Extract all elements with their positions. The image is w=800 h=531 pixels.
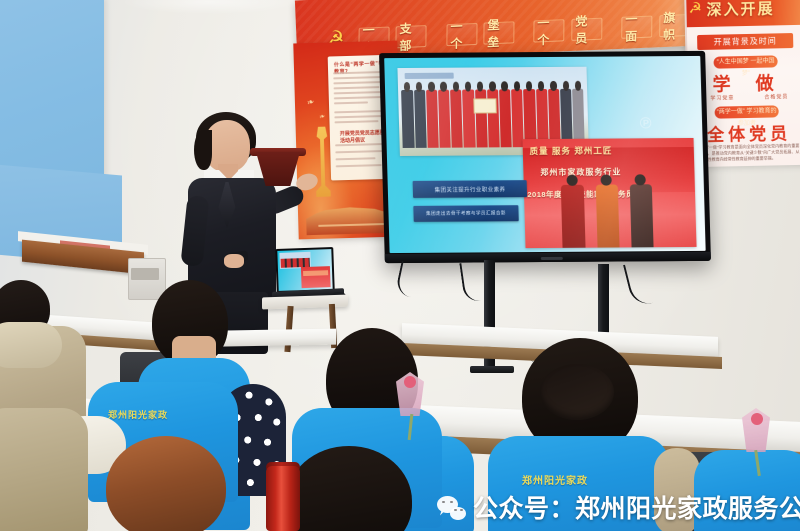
photo-person (401, 90, 414, 148)
presenter-left-hand (224, 254, 244, 268)
photo-logo (405, 73, 454, 79)
slide-text-box-1: 集团关注提升行业职业素养 (413, 180, 527, 198)
right-board-small-left: 学习党章 (710, 94, 734, 102)
screenshot-root: ☭ 一个 支部 一个 堡垒 一个 党员 一面 旗帜 ☭ 深入开展 开展背景及时间… (0, 0, 800, 531)
photo-person (426, 90, 439, 148)
award-person (595, 184, 619, 247)
audience-far-left (0, 408, 90, 531)
right-board-header-text: 深入开展 (706, 0, 774, 20)
wechat-icon (437, 495, 466, 520)
photo-person (499, 90, 512, 148)
right-board-paragraph: “两学一做”学习教育是面向全体党员深化党内教育的重要实践，是推动党内教育从“关键… (699, 143, 799, 163)
banner-word: 一个 (534, 19, 566, 42)
laptop-slide-photo-bottom (301, 266, 331, 288)
banner-word: 党员 (571, 18, 603, 41)
flower-bud (404, 376, 416, 388)
slide-screen: ℗ 质量 服务 郑州工匠 郑州市家政服务行业 2018年度职业技能家政服务员大赛… (384, 56, 706, 253)
wall-box-panel (131, 268, 159, 280)
slide-photo-award: 质量 服务 郑州工匠 郑州市家政服务行业 2018年度职业技能家政服务员大赛 (522, 138, 696, 248)
coat-fur-hood (0, 322, 62, 368)
award-person (561, 184, 585, 247)
banner-word: 一个 (446, 23, 478, 46)
flower-bud (751, 413, 763, 425)
photo-person (438, 90, 451, 148)
slide-watermark: ℗ (640, 115, 652, 133)
vest-company-text: 郑州阳光家政 (108, 408, 168, 421)
tv-brand-logo (541, 257, 563, 260)
watermark-text: 公众号：郑州阳光家政服务公司 (473, 489, 800, 525)
audience-hair-bun (540, 364, 614, 420)
red-thermos (266, 466, 300, 531)
award-banner-line1: 质量 服务 郑州工匠 (529, 144, 686, 157)
banner-word: 一面 (621, 16, 653, 39)
ceiling-light-glow (120, 0, 300, 14)
audience-left-front: 郑州阳光家政 (66, 398, 256, 531)
award-banner-line2: 郑州市家政服务行业 (540, 166, 687, 178)
presentation-display[interactable]: ℗ 质量 服务 郑州工匠 郑州市家政服务行业 2018年度职业技能家政服务员大赛… (379, 51, 711, 263)
photo-plaque (474, 99, 497, 114)
banner-word: 支部 (396, 25, 428, 48)
presenter-hair-side (194, 130, 212, 170)
vest-company-text: 郑州阳光家政 (522, 472, 588, 487)
photo-person (414, 90, 427, 148)
tan-coat (0, 408, 88, 531)
hammer-sickle-icon: ☭ (688, 0, 702, 17)
right-board-ribbon: 开展背景及时间 (697, 33, 793, 50)
award-person (629, 184, 653, 247)
audience-reddish-hair (106, 436, 226, 531)
right-board-small-right: 合格党员 (764, 93, 788, 101)
photo-person (450, 90, 463, 148)
right-board-tag-2: “两学一做” 学习教育的参加者 (715, 105, 779, 118)
wechat-watermark: 公众号：郑州阳光家政服务公司 (437, 489, 800, 525)
right-board-tag-1: “人生中国梦 一起中国梦” (714, 55, 778, 68)
slide-text-box-2: 集团走出去骨干考察与学员汇报合影 (414, 205, 519, 221)
banner-word: 堡垒 (483, 21, 515, 44)
